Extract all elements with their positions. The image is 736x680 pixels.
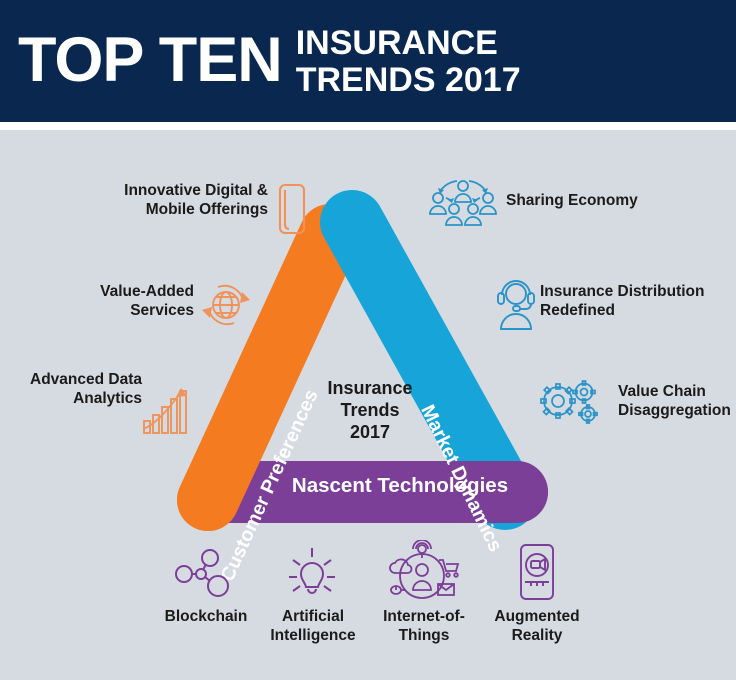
trend-label-value-chain-disaggregation[interactable]: Value Chain Disaggregation — [618, 383, 736, 421]
trend-label-value-added-services[interactable]: Value-Added Services — [76, 283, 194, 321]
headset-agent-icon — [493, 277, 541, 331]
trend-label-line1: Value-Added — [76, 283, 194, 302]
trend-label-line1: Innovative Digital & — [88, 182, 268, 201]
trend-label-line1: Augmented — [482, 608, 592, 627]
trend-label-line2: Disaggregation — [618, 402, 736, 421]
trend-label-augmented-reality[interactable]: Augmented Reality — [482, 608, 592, 646]
mobile-phone-icon — [272, 181, 312, 239]
pillar-customer-preferences-cap — [208, 420, 245, 500]
trend-label-line2: Reality — [482, 627, 592, 646]
trend-label-line1: Blockchain — [148, 608, 264, 627]
trend-label-line2: Analytics — [14, 390, 142, 409]
lightbulb-icon — [282, 546, 342, 602]
trend-label-line1: Internet-of- — [370, 608, 478, 627]
trend-label-sharing-economy[interactable]: Sharing Economy — [506, 192, 706, 211]
trend-label-line2: Things — [370, 627, 478, 646]
page-title-sub-line2: TRENDS 2017 — [296, 62, 521, 99]
center-label-line3: 2017 — [310, 422, 430, 444]
people-network-icon — [428, 176, 498, 232]
blockchain-nodes-icon — [172, 546, 238, 602]
center-label-line1: Insurance — [310, 378, 430, 400]
header-banner: TOP TEN INSURANCE TRENDS 2017 — [0, 0, 736, 122]
page-title-sub-line1: INSURANCE — [296, 25, 521, 62]
trend-label-internet-of-things[interactable]: Internet-of- Things — [370, 608, 478, 646]
trend-label-blockchain[interactable]: Blockchain — [148, 608, 264, 627]
page-title-main: TOP TEN — [18, 31, 282, 91]
trend-label-line2: Services — [76, 302, 194, 321]
trend-label-artificial-intelligence[interactable]: Artificial Intelligence — [255, 608, 371, 646]
gears-icon — [536, 376, 602, 428]
globe-refresh-icon — [198, 278, 254, 332]
page-title-sub: INSURANCE TRENDS 2017 — [296, 25, 521, 98]
bar-chart-growth-icon — [140, 385, 194, 435]
trend-label-line1: Sharing Economy — [506, 192, 706, 211]
trend-label-line1: Artificial — [255, 608, 371, 627]
center-label: Insurance Trends 2017 — [310, 378, 430, 444]
iot-connected-icon — [382, 540, 462, 602]
pillar-label-nascent-technologies: Nascent Technologies — [292, 474, 508, 497]
trend-label-line1: Insurance Distribution — [540, 283, 736, 302]
trend-label-line2: Intelligence — [255, 627, 371, 646]
ar-device-icon — [512, 542, 562, 604]
pillar-market-dynamics[interactable] — [352, 222, 505, 498]
trend-label-line2: Redefined — [540, 302, 736, 321]
trend-label-innovative-digital-mobile-offerings[interactable]: Innovative Digital & Mobile Offerings — [88, 182, 268, 220]
trend-label-insurance-distribution-redefined[interactable]: Insurance Distribution Redefined — [540, 283, 736, 321]
trend-label-advanced-data-analytics[interactable]: Advanced Data Analytics — [14, 371, 142, 409]
trend-label-line1: Value Chain — [618, 383, 736, 402]
center-label-line2: Trends — [310, 400, 430, 422]
trend-label-line2: Mobile Offerings — [88, 201, 268, 220]
infographic-page: TOP TEN INSURANCE TRENDS 2017 — [0, 0, 736, 680]
trend-label-line1: Advanced Data — [14, 371, 142, 390]
